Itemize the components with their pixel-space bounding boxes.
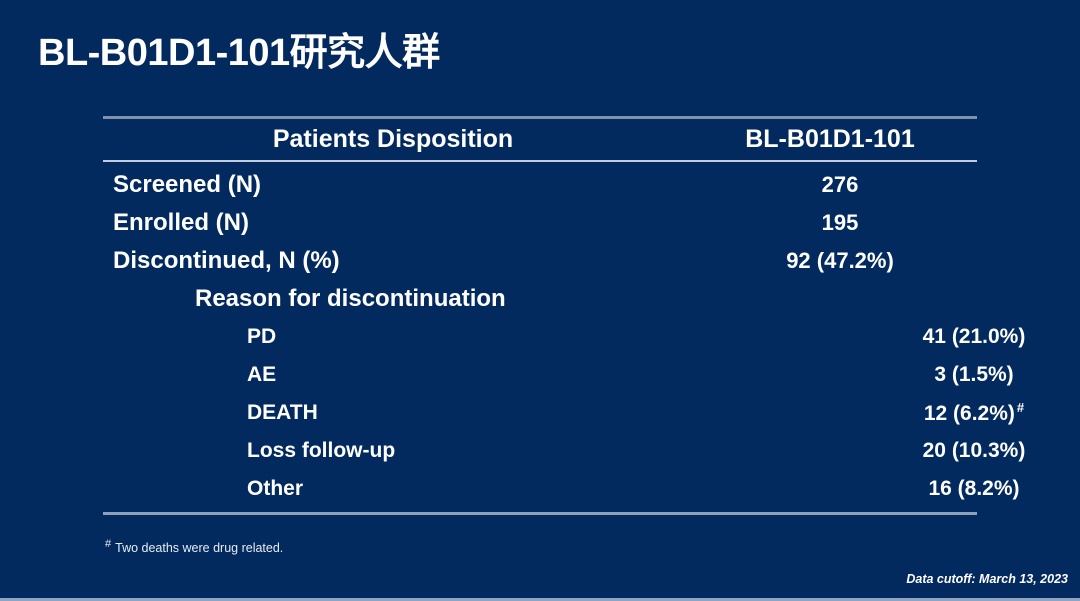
row-label: Enrolled (N): [103, 209, 693, 237]
table-bottom-rule: [103, 512, 977, 515]
row-label: Discontinued, N (%): [103, 247, 693, 275]
page-title: BL-B01D1-101研究人群: [38, 21, 440, 76]
table-header-row: Patients Disposition BL-B01D1-101: [103, 119, 977, 160]
table-row: AE 3 (1.5%): [103, 356, 977, 394]
row-value: 20 (10.3%): [827, 439, 1080, 463]
patients-disposition-table: Patients Disposition BL-B01D1-101 Screen…: [103, 116, 977, 515]
row-value-with-footnote: 12 (6.2%)#: [827, 400, 1080, 426]
row-label: AE: [103, 363, 827, 387]
row-value: 276: [693, 172, 987, 198]
row-value: 41 (21.0%): [827, 325, 1080, 349]
row-label: DEATH: [103, 401, 827, 425]
row-value: 92 (47.2%): [693, 248, 987, 274]
table-row: Discontinued, N (%) 92 (47.2%): [103, 242, 977, 280]
row-value: 195: [693, 210, 987, 236]
column-header-value: BL-B01D1-101: [683, 125, 977, 154]
column-header-label: Patients Disposition: [103, 125, 683, 154]
row-label: Reason for discontinuation: [103, 285, 775, 313]
table-row: Other 16 (8.2%): [103, 470, 977, 508]
footnote-text: Two deaths were drug related.: [115, 541, 283, 555]
row-value: 3 (1.5%): [827, 363, 1080, 387]
row-label: PD: [103, 325, 827, 349]
table-row: Loss follow-up 20 (10.3%): [103, 432, 977, 470]
table-body: Screened (N) 276 Enrolled (N) 195 Discon…: [103, 162, 977, 512]
row-value: 12 (6.2%): [924, 402, 1015, 425]
row-label: Screened (N): [103, 171, 693, 199]
table-row: DEATH 12 (6.2%)#: [103, 394, 977, 432]
table-row-subheader: Reason for discontinuation: [103, 280, 977, 318]
table-row: PD 41 (21.0%): [103, 318, 977, 356]
table-row: Screened (N) 276: [103, 166, 977, 204]
row-value: 16 (8.2%): [827, 477, 1080, 501]
footnote-marker: #: [105, 538, 111, 550]
row-label: Loss follow-up: [103, 439, 827, 463]
footnote-superscript: #: [1017, 400, 1024, 415]
data-cutoff-label: Data cutoff: March 13, 2023: [906, 572, 1068, 586]
slide-canvas: BL-B01D1-101研究人群 Patients Disposition BL…: [0, 0, 1080, 601]
table-row: Enrolled (N) 195: [103, 204, 977, 242]
table-footnote: #Two deaths were drug related.: [105, 538, 283, 555]
row-label: Other: [103, 477, 827, 501]
